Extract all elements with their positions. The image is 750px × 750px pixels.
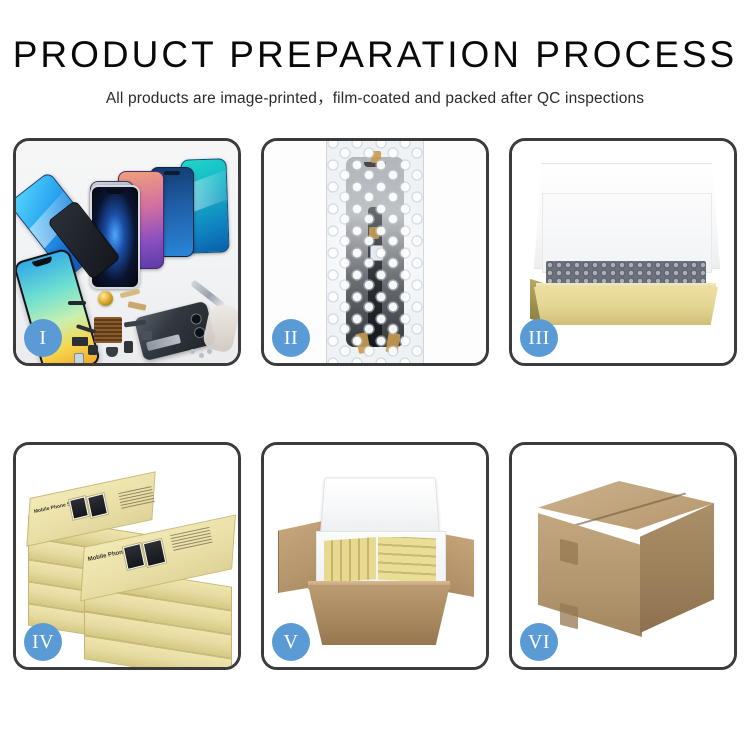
step-badge-6: VI [520, 623, 558, 661]
packed-box-group-icon [324, 537, 376, 583]
step-badge-5: V [272, 623, 310, 661]
packed-box-group-icon [378, 537, 436, 583]
box-front-icon [534, 287, 718, 325]
small-component-icon [124, 341, 133, 353]
process-step-panel-3: III [509, 138, 737, 366]
bubble-wrap-bag-icon [326, 141, 424, 363]
small-component-icon [142, 331, 152, 340]
step-badge-2: II [272, 319, 310, 357]
speaker-coil-icon [98, 291, 113, 306]
flex-cable-icon [72, 337, 88, 346]
page-title: PRODUCT PREPARATION PROCESS [0, 36, 750, 74]
battery-cell-icon [74, 353, 84, 363]
carton-body-icon [308, 585, 450, 645]
process-step-panel-6: VI [509, 442, 737, 670]
step-badge-3: III [520, 319, 558, 357]
process-step-panel-5: V [261, 442, 489, 670]
camera-lens-icon [190, 312, 203, 325]
carton-tape-icon [560, 603, 578, 629]
process-step-panel-1: I [13, 138, 241, 366]
process-step-panel-2: II [261, 138, 489, 366]
chip-array-icon [94, 317, 122, 343]
step-badge-4: IV [24, 623, 62, 661]
screws-icon [190, 349, 214, 359]
process-step-panel-4: Mobile Phone Spare Parts Mobile Phone Sp… [13, 442, 241, 670]
process-step-grid: I II III [13, 138, 737, 670]
page-subtitle: All products are image-printed，film-coat… [0, 86, 750, 108]
page-header: PRODUCT PREPARATION PROCESS All products… [0, 0, 750, 108]
antenna-strip-icon [68, 301, 86, 305]
step-badge-1: I [24, 319, 62, 357]
packed-boxes-icon [324, 537, 436, 583]
bubble-texture-icon [327, 141, 423, 363]
carton-tape-icon [560, 539, 578, 565]
small-component-icon [88, 345, 98, 355]
